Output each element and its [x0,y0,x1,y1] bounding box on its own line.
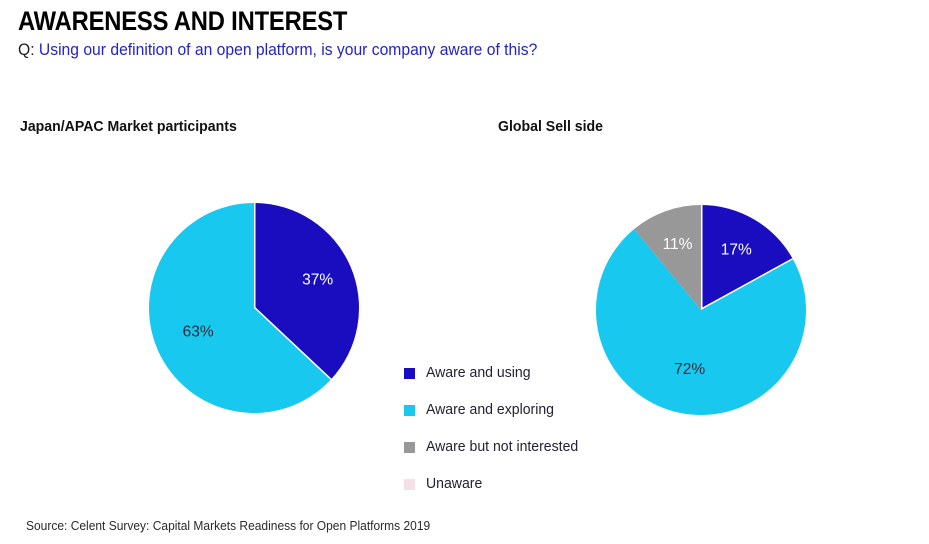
pie-slice-value-label: 63% [183,323,214,340]
legend-swatch-icon [404,479,415,490]
question-prefix: Q: [18,41,35,59]
legend-swatch-icon [404,442,415,453]
legend: Aware and usingAware and exploringAware … [404,362,583,510]
question-text: Using our definition of an open platform… [35,41,538,59]
legend-item-label: Aware and using [426,365,531,381]
pie-slice-value-label: 17% [721,241,752,258]
legend-item[interactable]: Unaware [404,473,583,495]
pie-slice-value-label: 72% [674,361,705,378]
pie-slice-value-label: 11% [663,236,693,253]
legend-item[interactable]: Aware but not interested [404,436,583,458]
pie-chart-global-sell-side: 17%72%11% [595,204,807,416]
pie-chart-japan-apac: 37%63% [148,202,360,414]
pie-chart-japan-apac-svg: 37%63% [148,202,360,414]
legend-swatch-icon [404,368,415,379]
question-line: Q: Using our definition of an open platf… [18,41,537,60]
legend-item-label: Aware but not interested [426,439,578,455]
source-note: Source: Celent Survey: Capital Markets R… [26,519,430,533]
pie-slice-value-label: 37% [302,272,333,289]
legend-item-label: Aware and exploring [426,402,554,418]
legend-item[interactable]: Aware and using [404,362,583,384]
pie-chart-global-sell-side-svg: 17%72%11% [595,204,807,416]
chart-heading-global-sell-side: Global Sell side [498,118,603,135]
legend-swatch-icon [404,405,415,416]
legend-item-label: Unaware [426,476,482,492]
legend-item[interactable]: Aware and exploring [404,399,583,421]
chart-heading-japan-apac: Japan/APAC Market participants [20,118,237,135]
page-title: AWARENESS AND INTEREST [18,6,347,37]
